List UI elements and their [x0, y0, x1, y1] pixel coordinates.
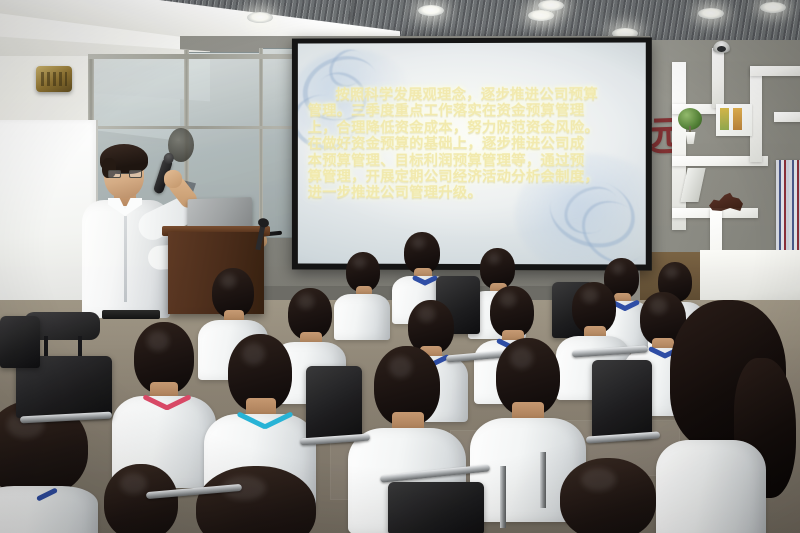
presenter-right-hand: [164, 170, 182, 188]
slide-line: 管理。三季度重点工作落实在资金预算管理: [308, 103, 632, 120]
glasses-icon: [108, 170, 142, 178]
chair-post: [44, 336, 48, 358]
ceiling-downlight: [698, 8, 724, 19]
chair-backrest: [592, 360, 652, 438]
slide-line: 上，合理降低资金成本，努力防范资金风险。: [308, 120, 632, 137]
audience-member-long-hair: [660, 300, 800, 533]
head: [560, 458, 656, 533]
slide-body-text: 按照科学发展观理念，逐步推进公司预算 管理。三季度重点工作落实在资金预算管理 上…: [304, 87, 636, 202]
partition-mid-rail: [92, 126, 302, 129]
head: [104, 464, 178, 533]
projection-screen-surface: 按照科学发展观理念，逐步推进公司预算 管理。三季度重点工作落实在资金预算管理 上…: [298, 42, 646, 264]
audience-member-foreground: [560, 452, 680, 533]
wall-plaque: [36, 66, 72, 92]
slide-line: 本预算管理、目标利润预算管理等，通过预: [308, 153, 632, 169]
belt: [102, 310, 160, 319]
head: [196, 466, 316, 533]
shelf-panel: [774, 112, 800, 122]
shelf-panel: [672, 62, 686, 230]
ceiling-downlight: [528, 10, 554, 21]
partition-mullion: [259, 48, 263, 240]
ceiling-downlight: [538, 0, 564, 11]
shelf-panel: [712, 48, 724, 108]
chair-backrest: [306, 366, 362, 440]
partition-header-rail: [88, 54, 304, 59]
chair-leg: [500, 466, 506, 528]
slide-line: 在做好资金预算的基础上，逐步推进公司成: [308, 136, 632, 152]
chair-backrest: [388, 482, 484, 533]
slide-line: 按照科学发展观理念，逐步推进公司预算: [308, 87, 632, 104]
ceiling-downlight: [418, 5, 444, 16]
audience-member-foreground: [196, 466, 328, 533]
framed-poster: [716, 104, 752, 136]
slide-line: 进一步推进公司管理升级。: [308, 185, 632, 202]
chair-leg: [540, 452, 546, 508]
chair-post: [78, 336, 82, 358]
book-stack: [776, 160, 800, 252]
dome-camera-icon: [713, 41, 730, 53]
ceiling-downlight: [760, 2, 786, 13]
shirt-placket: [124, 216, 127, 302]
shelf-panel: [750, 66, 800, 76]
chair-backrest: [0, 316, 40, 368]
conference-room-photo: 远 按照科学发展观理念: [0, 0, 800, 533]
slide-line: 算管理，开展定期公司经济活动分析会制度，: [308, 169, 632, 186]
ceiling-downlight: [247, 12, 273, 23]
projection-screen: 按照科学发展观理念，逐步推进公司预算 管理。三季度重点工作落实在资金预算管理 上…: [292, 37, 652, 270]
